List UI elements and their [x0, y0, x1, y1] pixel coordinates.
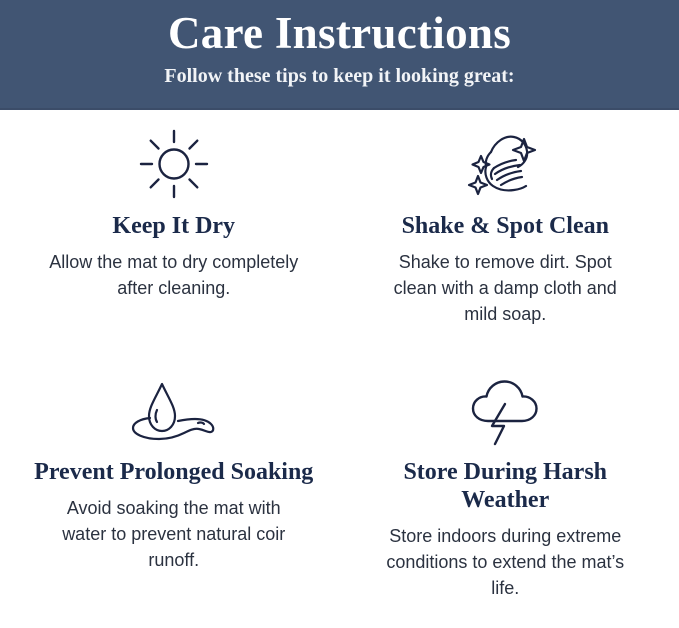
- tip-title: Shake & Spot Clean: [402, 212, 609, 240]
- tip-title: Store During Harsh Weather: [365, 458, 645, 514]
- tip-card-prevent-prolonged-soaking: Prevent Prolonged Soaking Avoid soaking …: [8, 374, 340, 624]
- storm-cloud-lightning-icon: [464, 374, 546, 450]
- tip-card-shake-and-spot-clean: Shake & Spot Clean Shake to remove dirt.…: [340, 124, 672, 374]
- tip-body: Avoid soaking the mat with water to prev…: [48, 495, 300, 573]
- tip-body: Store indoors during extreme conditions …: [379, 523, 631, 601]
- tip-title: Prevent Prolonged Soaking: [34, 458, 313, 486]
- care-instructions-infographic: Care Instructions Follow these tips to k…: [0, 0, 679, 628]
- washing-hands-sparkle-icon: [461, 124, 549, 204]
- tip-title: Keep It Dry: [112, 212, 235, 240]
- tip-card-store-during-harsh-weather: Store During Harsh Weather Store indoors…: [340, 374, 672, 624]
- page-subtitle: Follow these tips to keep it looking gre…: [164, 63, 514, 89]
- tip-body: Allow the mat to dry completely after cl…: [48, 249, 300, 301]
- tip-body: Shake to remove dirt. Spot clean with a …: [379, 249, 631, 327]
- tip-card-keep-it-dry: Keep It Dry Allow the mat to dry complet…: [8, 124, 340, 374]
- sun-icon: [138, 124, 210, 204]
- tips-grid: Keep It Dry Allow the mat to dry complet…: [0, 110, 679, 628]
- header-banner: Care Instructions Follow these tips to k…: [0, 0, 679, 110]
- page-title: Care Instructions: [168, 7, 511, 59]
- water-droplet-puddle-icon: [128, 374, 220, 450]
